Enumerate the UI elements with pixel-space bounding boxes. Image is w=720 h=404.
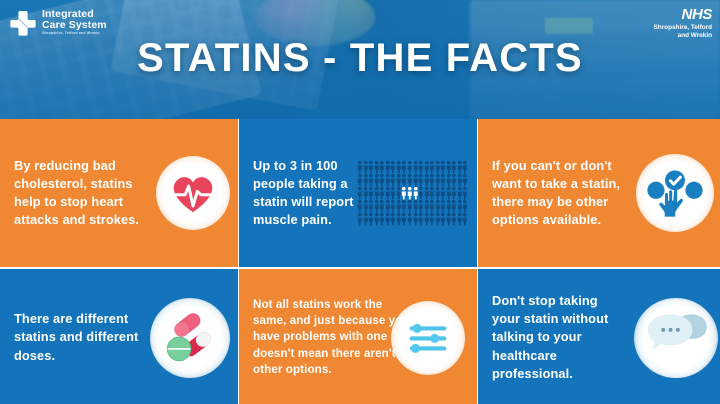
pictogram-person bbox=[462, 213, 468, 226]
panel-other-options: If you can't or don't want to take a sta… bbox=[478, 119, 720, 267]
pictogram-person bbox=[462, 174, 468, 187]
page-title: STATINS - THE FACTS bbox=[0, 36, 720, 81]
panel-reducing-cholesterol: By reducing bad cholesterol, statins hel… bbox=[0, 119, 238, 267]
panel-3-text: If you can't or don't want to take a sta… bbox=[492, 157, 628, 230]
panel-dont-stop: Don't stop taking your statin without ta… bbox=[478, 269, 720, 404]
hand-choice-check-icon bbox=[636, 154, 714, 232]
pictogram-person bbox=[462, 200, 468, 213]
panel-6-text: Don't stop taking your statin without ta… bbox=[492, 292, 628, 383]
cross-logo-icon bbox=[10, 10, 36, 36]
ics-logo: Integrated Care System Shropshire, Telfo… bbox=[10, 9, 107, 36]
panel-5-text: Not all statins work the same, and just … bbox=[253, 297, 413, 378]
speech-bubbles-icon bbox=[634, 298, 718, 378]
nhs-sub-line1: Shropshire, Telford bbox=[654, 24, 712, 32]
facts-grid: By reducing bad cholesterol, statins hel… bbox=[0, 119, 720, 404]
ics-logo-line2: Care System bbox=[42, 20, 107, 31]
panel-2-text: Up to 3 in 100 people taking a statin wi… bbox=[253, 157, 361, 230]
people-pictogram-icon bbox=[357, 161, 468, 226]
nhs-wordmark: NHS bbox=[654, 7, 712, 22]
panel-not-all-same: Not all statins work the same, and just … bbox=[239, 269, 477, 404]
pictogram-person bbox=[462, 161, 468, 174]
pictogram-person bbox=[462, 187, 468, 200]
pills-icon bbox=[150, 298, 230, 378]
panel-4-text: There are different statins and differen… bbox=[14, 310, 154, 364]
statins-infographic: Integrated Care System Shropshire, Telfo… bbox=[0, 0, 720, 404]
panel-1-text: By reducing bad cholesterol, statins hel… bbox=[14, 157, 156, 230]
header-banner: Integrated Care System Shropshire, Telfo… bbox=[0, 0, 720, 119]
panel-different-doses: There are different statins and differen… bbox=[0, 269, 238, 404]
nhs-logo: NHS Shropshire, Telford and Wrekin bbox=[654, 7, 712, 40]
panel-muscle-pain: Up to 3 in 100 people taking a statin wi… bbox=[239, 119, 477, 267]
heart-pulse-icon bbox=[156, 156, 230, 230]
